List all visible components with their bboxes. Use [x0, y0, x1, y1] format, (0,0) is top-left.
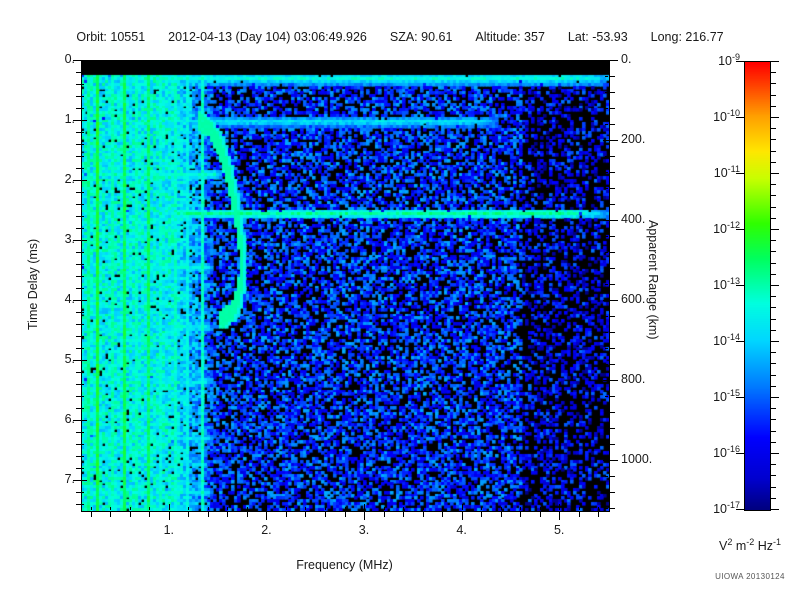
x-axis-minor-tick-in [149, 507, 150, 510]
y2-axis-minor-tick [610, 236, 615, 237]
colorbar-minor-tick [771, 128, 776, 129]
y-axis-minor-tick-in [81, 144, 84, 145]
y2-axis-minor-tick [610, 76, 615, 77]
observation-datetime: 2012-04-13 (Day 104) 03:06:49.926 [168, 30, 367, 44]
y2-axis-minor-tick [610, 492, 615, 493]
colorbar-minor-tick [771, 218, 776, 219]
x-axis-top-tick [91, 60, 92, 63]
x-axis-top-tick [384, 60, 385, 63]
y-axis-minor-tick-in [81, 348, 84, 349]
y2-axis-tick-label: 0. [621, 52, 631, 66]
y-axis-major-tick-in [81, 480, 87, 481]
colorbar-tick-label: 10-9 [688, 52, 740, 68]
x-axis-minor-tick-in [305, 507, 306, 510]
y2-axis-major-tick [610, 220, 618, 221]
colorbar-minor-tick [771, 274, 776, 275]
y2-axis-minor-tick-in [605, 92, 608, 93]
y2-axis-minor-tick-in [605, 428, 608, 429]
colorbar-major-tick-r [771, 229, 779, 230]
y2-axis-major-tick [610, 140, 618, 141]
x-axis-major-tick-in [364, 504, 365, 510]
colorbar-minor-tick [771, 487, 776, 488]
x-axis-minor-tick-in [208, 507, 209, 510]
x-axis-minor-tick [286, 512, 287, 517]
x-axis-minor-tick [208, 512, 209, 517]
colorbar-major-tick-r [771, 453, 779, 454]
x-axis-minor-tick [442, 512, 443, 517]
y-axis-minor-tick-in [81, 228, 84, 229]
x-axis-top-tick [149, 60, 150, 63]
x-axis-major-tick [559, 512, 560, 520]
colorbar-minor-tick [771, 72, 776, 73]
y-axis-minor-tick-in [81, 372, 84, 373]
y2-axis-title: Apparent Range (km) [646, 220, 660, 340]
x-axis-top-tick [266, 60, 267, 66]
x-axis-minor-tick [247, 512, 248, 517]
colorbar-major-tick-r [771, 341, 779, 342]
y2-axis-major-tick [610, 60, 618, 61]
colorbar-minor-tick [771, 352, 776, 353]
y-axis-major-tick-in [81, 300, 87, 301]
x-axis-minor-tick [305, 512, 306, 517]
y-axis-tick-label: 6. [30, 412, 75, 426]
x-axis-top-tick [364, 60, 365, 66]
x-axis-minor-tick-in [110, 507, 111, 510]
colorbar-minor-tick [771, 442, 776, 443]
y-axis-minor-tick-in [81, 396, 84, 397]
colorbar-units-label: V2 m-2 Hz-1 [700, 537, 800, 553]
x-axis-top-tick [208, 60, 209, 63]
altitude-label: Altitude: [475, 30, 520, 44]
x-axis-top-tick [423, 60, 424, 63]
x-axis-minor-tick [149, 512, 150, 517]
y2-axis-minor-tick-in [605, 348, 608, 349]
colorbar-tick-label: 10-16 [688, 444, 740, 460]
y-axis-minor-tick-in [81, 252, 84, 253]
x-axis-minor-tick-in [384, 507, 385, 510]
y-axis-minor-tick-in [81, 264, 84, 265]
x-axis-top-tick [559, 60, 560, 66]
x-axis-top-tick [345, 60, 346, 63]
y2-axis-major-tick [610, 300, 618, 301]
colorbar-minor-tick [771, 408, 776, 409]
y-axis-minor-tick-in [81, 192, 84, 193]
y2-axis-major-tick-in [603, 380, 609, 381]
x-axis-top-tick [481, 60, 482, 63]
y2-axis-minor-tick-in [605, 508, 608, 509]
y-axis-minor-tick-in [81, 408, 84, 409]
y2-axis-minor-tick [610, 444, 615, 445]
altitude-value: 357 [524, 30, 545, 44]
colorbar-tick-label: 10-13 [688, 276, 740, 292]
long-value: 216.77 [685, 30, 723, 44]
colorbar-tick-label: 10-11 [688, 164, 740, 180]
y-axis-tick-label: 1. [30, 112, 75, 126]
colorbar-major-tick-r [771, 509, 779, 510]
x-axis-minor-tick-in [91, 507, 92, 510]
colorbar-minor-tick [771, 498, 776, 499]
y-axis-tick-label: 5. [30, 352, 75, 366]
y-axis-minor-tick-in [81, 168, 84, 169]
x-axis-minor-tick [540, 512, 541, 517]
long-label: Long: [651, 30, 682, 44]
colorbar-tick-label: 10-12 [688, 220, 740, 236]
x-axis-minor-tick [384, 512, 385, 517]
y-axis-major-tick-in [81, 180, 87, 181]
y-axis-minor-tick-in [81, 96, 84, 97]
colorbar-minor-tick [771, 330, 776, 331]
y-axis-minor-tick-in [81, 288, 84, 289]
colorbar-minor-tick [771, 363, 776, 364]
y-axis-minor-tick-in [81, 336, 84, 337]
y2-axis-minor-tick [610, 508, 615, 509]
x-axis-minor-tick-in [130, 507, 131, 510]
y2-axis-minor-tick [610, 476, 615, 477]
y2-axis-minor-tick [610, 92, 615, 93]
y-axis-major-tick-in [81, 360, 87, 361]
x-axis-minor-tick-in [325, 507, 326, 510]
x-axis-tick-label: 1. [149, 523, 189, 537]
y2-axis-minor-tick-in [605, 236, 608, 237]
y2-axis-major-tick-in [603, 140, 609, 141]
y-axis-minor-tick-in [81, 456, 84, 457]
y2-axis-minor-tick-in [605, 332, 608, 333]
y2-axis-minor-tick [610, 396, 615, 397]
y2-axis-minor-tick [610, 156, 615, 157]
colorbar-minor-tick [771, 431, 776, 432]
x-axis-minor-tick-in [501, 507, 502, 510]
x-axis-top-tick [286, 60, 287, 63]
y-axis-minor-tick-in [81, 276, 84, 277]
y-axis-minor-tick-in [81, 468, 84, 469]
x-axis-top-tick [247, 60, 248, 63]
x-axis-minor-tick [579, 512, 580, 517]
y2-axis-minor-tick [610, 188, 615, 189]
colorbar-minor-tick [771, 375, 776, 376]
x-axis-title: Frequency (MHz) [81, 558, 608, 572]
y2-axis-minor-tick [610, 108, 615, 109]
y2-axis-minor-tick-in [605, 268, 608, 269]
y-axis-major-tick-in [81, 60, 87, 61]
y-axis-minor-tick-in [81, 324, 84, 325]
y2-axis-minor-tick [610, 204, 615, 205]
y2-axis-minor-tick-in [605, 204, 608, 205]
y2-axis-major-tick-in [603, 220, 609, 221]
y-axis-title: Time Delay (ms) [26, 239, 40, 330]
ionogram-plot-area [81, 60, 610, 512]
colorbar-gradient [745, 62, 770, 510]
colorbar-minor-tick [771, 184, 776, 185]
sza-label: SZA: [390, 30, 418, 44]
y2-axis-minor-tick-in [605, 172, 608, 173]
y-axis-minor-tick-in [81, 72, 84, 73]
x-axis-tick-label: 2. [246, 523, 286, 537]
y2-axis-tick-label: 400. [621, 212, 645, 226]
y-axis-minor-tick-in [81, 216, 84, 217]
y-axis-tick-label: 0. [30, 52, 75, 66]
y2-axis-major-tick [610, 460, 618, 461]
x-axis-top-tick [520, 60, 521, 63]
x-axis-top-tick [227, 60, 228, 63]
x-axis-minor-tick-in [598, 507, 599, 510]
colorbar-minor-tick [771, 151, 776, 152]
x-axis-major-tick [169, 512, 170, 520]
colorbar-major-tick-r [771, 173, 779, 174]
x-axis-minor-tick [345, 512, 346, 517]
y2-axis-tick-label: 1000. [621, 452, 652, 466]
y2-axis-minor-tick-in [605, 444, 608, 445]
x-axis-minor-tick [130, 512, 131, 517]
ionogram-page: Orbit: 10551 2012-04-13 (Day 104) 03:06:… [0, 0, 800, 600]
y2-axis-minor-tick [610, 124, 615, 125]
y2-axis-minor-tick [610, 316, 615, 317]
y2-axis-minor-tick-in [605, 124, 608, 125]
colorbar-tick-label: 10-10 [688, 108, 740, 124]
colorbar-minor-tick [771, 83, 776, 84]
y2-axis-minor-tick [610, 412, 615, 413]
y2-axis-tick-label: 200. [621, 132, 645, 146]
colorbar-minor-tick [771, 319, 776, 320]
colorbar-major-tick-r [771, 61, 779, 62]
y-axis-major-tick-in [81, 420, 87, 421]
x-axis-minor-tick [325, 512, 326, 517]
y-axis-major-tick-in [81, 120, 87, 121]
y2-axis-minor-tick [610, 364, 615, 365]
colorbar-minor-tick [771, 207, 776, 208]
colorbar-minor-tick [771, 464, 776, 465]
y2-axis-minor-tick-in [605, 156, 608, 157]
x-axis-minor-tick-in [579, 507, 580, 510]
y-axis-tick-label: 2. [30, 172, 75, 186]
y2-axis-minor-tick [610, 268, 615, 269]
x-axis-tick-label: 4. [442, 523, 482, 537]
y2-axis-minor-tick-in [605, 188, 608, 189]
y-axis-minor-tick-in [81, 132, 84, 133]
x-axis-minor-tick-in [481, 507, 482, 510]
y-axis-minor-tick-in [81, 108, 84, 109]
x-axis-top-tick [579, 60, 580, 63]
y-axis-minor-tick-in [81, 504, 84, 505]
x-axis-major-tick-in [462, 504, 463, 510]
x-axis-top-tick [110, 60, 111, 63]
y2-axis-tick-label: 600. [621, 292, 645, 306]
y2-axis-minor-tick-in [605, 108, 608, 109]
x-axis-minor-tick-in [403, 507, 404, 510]
x-axis-top-tick [325, 60, 326, 63]
y2-axis-minor-tick [610, 172, 615, 173]
x-axis-top-tick [442, 60, 443, 63]
y2-axis-minor-tick-in [605, 252, 608, 253]
y-axis-minor-tick-in [81, 312, 84, 313]
colorbar-tick-label: 10-15 [688, 388, 740, 404]
x-axis-minor-tick-in [442, 507, 443, 510]
x-axis-top-tick [403, 60, 404, 63]
colorbar-tick-label: 10-14 [688, 332, 740, 348]
y2-axis-minor-tick-in [605, 412, 608, 413]
colorbar-minor-tick [771, 419, 776, 420]
x-axis-top-tick [305, 60, 306, 63]
x-axis-top-tick [462, 60, 463, 66]
x-axis-major-tick-in [559, 504, 560, 510]
colorbar-minor-tick [771, 162, 776, 163]
colorbar-minor-tick [771, 139, 776, 140]
x-axis-minor-tick-in [345, 507, 346, 510]
y2-axis-minor-tick-in [605, 476, 608, 477]
x-axis-tick-label: 3. [344, 523, 384, 537]
colorbar [744, 61, 771, 511]
x-axis-minor-tick [227, 512, 228, 517]
x-axis-major-tick [364, 512, 365, 520]
y2-axis-minor-tick-in [605, 492, 608, 493]
y2-axis-major-tick-in [603, 300, 609, 301]
spectrogram-image [82, 61, 609, 511]
x-axis-minor-tick [91, 512, 92, 517]
x-axis-minor-tick [598, 512, 599, 517]
credit-label: UIOWA 20130124 [700, 572, 800, 581]
y2-axis-minor-tick-in [605, 76, 608, 77]
orbit-value: 10551 [110, 30, 145, 44]
y-axis-minor-tick-in [81, 156, 84, 157]
y-axis-major-tick-in [81, 240, 87, 241]
y2-axis-minor-tick [610, 252, 615, 253]
x-axis-minor-tick [423, 512, 424, 517]
x-axis-top-tick [501, 60, 502, 63]
y2-axis-major-tick [610, 380, 618, 381]
observation-header: Orbit: 10551 2012-04-13 (Day 104) 03:06:… [0, 30, 800, 44]
x-axis-minor-tick-in [247, 507, 248, 510]
x-axis-minor-tick [501, 512, 502, 517]
colorbar-major-tick-r [771, 285, 779, 286]
x-axis-minor-tick-in [286, 507, 287, 510]
x-axis-minor-tick-in [188, 507, 189, 510]
x-axis-major-tick-in [266, 504, 267, 510]
x-axis-minor-tick [110, 512, 111, 517]
colorbar-minor-tick [771, 386, 776, 387]
x-axis-top-tick [169, 60, 170, 66]
colorbar-minor-tick [771, 106, 776, 107]
x-axis-minor-tick-in [540, 507, 541, 510]
y-axis-minor-tick-in [81, 492, 84, 493]
colorbar-minor-tick [771, 95, 776, 96]
x-axis-top-tick [130, 60, 131, 63]
y-axis-tick-label: 7. [30, 472, 75, 486]
colorbar-minor-tick [771, 475, 776, 476]
y-axis-minor-tick-in [81, 204, 84, 205]
y2-axis-minor-tick [610, 332, 615, 333]
y-axis-minor-tick-in [81, 432, 84, 433]
orbit-label: Orbit: [76, 30, 107, 44]
y2-axis-major-tick-in [603, 460, 609, 461]
colorbar-tick-label: 10-17 [688, 500, 740, 516]
sza-value: 90.61 [421, 30, 452, 44]
x-axis-minor-tick [188, 512, 189, 517]
y2-axis-minor-tick-in [605, 364, 608, 365]
y-axis-minor-tick-in [81, 84, 84, 85]
colorbar-major-tick-r [771, 397, 779, 398]
y2-axis-minor-tick [610, 428, 615, 429]
x-axis-minor-tick-in [227, 507, 228, 510]
colorbar-major-tick-r [771, 117, 779, 118]
y-axis-minor-tick-in [81, 444, 84, 445]
y2-axis-minor-tick [610, 284, 615, 285]
y2-axis-tick-label: 800. [621, 372, 645, 386]
x-axis-top-tick [598, 60, 599, 63]
colorbar-minor-tick [771, 263, 776, 264]
x-axis-minor-tick [520, 512, 521, 517]
x-axis-tick-label: 5. [539, 523, 579, 537]
y2-axis-major-tick-in [603, 60, 609, 61]
colorbar-minor-tick [771, 240, 776, 241]
lat-label: Lat: [568, 30, 589, 44]
x-axis-top-tick [540, 60, 541, 63]
y2-axis-minor-tick [610, 348, 615, 349]
x-axis-top-tick [188, 60, 189, 63]
y2-axis-minor-tick-in [605, 396, 608, 397]
colorbar-minor-tick [771, 296, 776, 297]
y-axis-minor-tick-in [81, 384, 84, 385]
colorbar-minor-tick [771, 251, 776, 252]
x-axis-minor-tick [481, 512, 482, 517]
x-axis-minor-tick-in [520, 507, 521, 510]
y2-axis-minor-tick-in [605, 316, 608, 317]
x-axis-minor-tick [403, 512, 404, 517]
colorbar-minor-tick [771, 307, 776, 308]
colorbar-minor-tick [771, 195, 776, 196]
x-axis-minor-tick-in [423, 507, 424, 510]
x-axis-major-tick [266, 512, 267, 520]
lat-value: -53.93 [592, 30, 627, 44]
y2-axis-minor-tick-in [605, 284, 608, 285]
x-axis-major-tick [462, 512, 463, 520]
x-axis-major-tick-in [169, 504, 170, 510]
